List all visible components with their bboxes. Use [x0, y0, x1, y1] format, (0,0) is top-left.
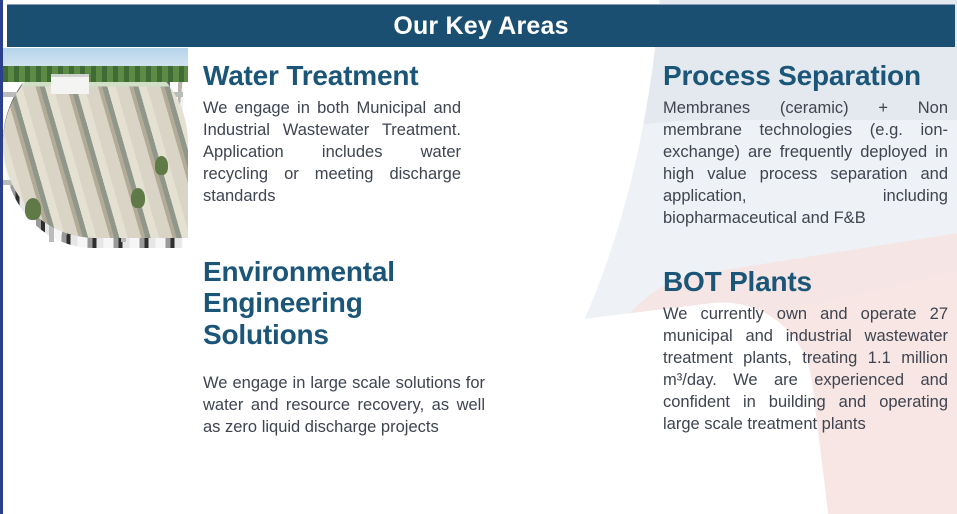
- header-banner: Our Key Areas: [7, 4, 955, 47]
- card-body-process-separation: Membranes (ceramic) + Non membrane techn…: [663, 97, 948, 229]
- card-bot-plants-text: BOT Plants We currently own and operate …: [663, 266, 948, 435]
- card-title-environmental-engineering-solutions: Environmental Engineering Solutions: [203, 256, 485, 350]
- card-bot-plants: BOT Plants We currently own and operate …: [3, 48, 188, 238]
- card-environmental-engineering-text: Environmental Engineering Solutions We e…: [203, 256, 485, 438]
- card-body-bot-plants: We currently own and operate 27 municipa…: [663, 303, 948, 435]
- card-title-process-separation: Process Separation: [663, 60, 948, 91]
- card-process-separation-text: Process Separation Membranes (ceramic) +…: [663, 60, 948, 229]
- slide-root: Our Key Areas Water Treatment We engage …: [0, 0, 957, 514]
- tree-line: [3, 66, 188, 82]
- card-water-treatment-text: Water Treatment We engage in both Munici…: [203, 60, 461, 207]
- aerial-wastewater-treatment-plant-photo: [3, 48, 188, 238]
- card-body-water-treatment: We engage in both Municipal and Industri…: [203, 97, 461, 207]
- plant-building: [51, 74, 89, 94]
- page-title: Our Key Areas: [393, 12, 568, 41]
- card-title-bot-plants: BOT Plants: [663, 266, 948, 297]
- bush-icon: [25, 198, 41, 220]
- bush-icon: [155, 156, 168, 175]
- key-areas-grid: Water Treatment We engage in both Munici…: [3, 48, 957, 514]
- card-body-environmental-engineering-solutions: We engage in large scale solutions for w…: [203, 372, 485, 438]
- bush-icon: [131, 188, 145, 208]
- card-title-water-treatment: Water Treatment: [203, 60, 461, 91]
